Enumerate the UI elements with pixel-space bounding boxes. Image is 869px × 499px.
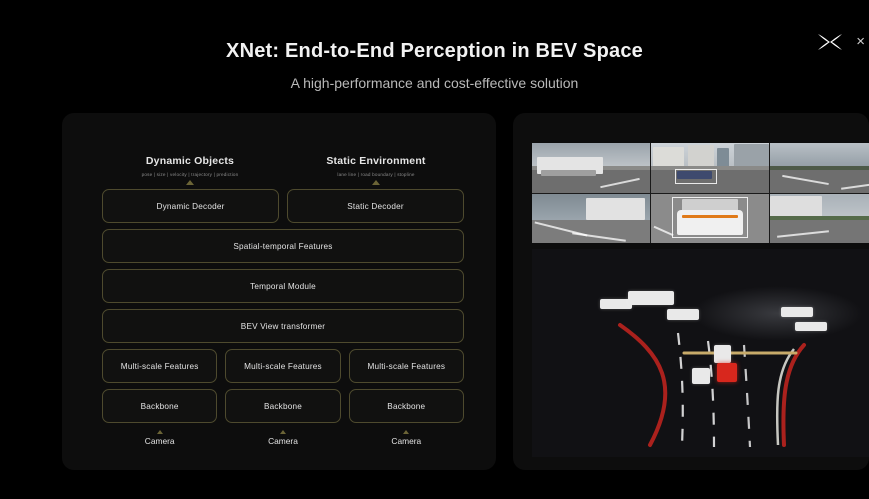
head-attributes: pose | size | velocity | trajectory | pr… — [102, 172, 278, 177]
rear-left-camera — [532, 194, 650, 244]
camera-input: Camera — [102, 430, 217, 446]
bev-scene-view — [532, 249, 869, 457]
block-spatial-temporal-features[interactable]: Spatial-temporal Features — [102, 229, 464, 263]
block-backbone[interactable]: Backbone — [349, 389, 464, 423]
arrow-up-icon — [372, 180, 380, 185]
front-camera — [651, 143, 769, 193]
bev-vehicle — [714, 345, 732, 364]
bev-vehicle — [692, 368, 710, 385]
front-left-camera — [532, 143, 650, 193]
camera-label: Camera — [349, 436, 464, 446]
architecture-diagram: Dynamic Objects pose | size | velocity |… — [102, 155, 464, 446]
multiscale-row: Multi-scale Features Multi-scale Feature… — [102, 349, 464, 383]
bev-vehicle — [667, 309, 699, 319]
camera-input: Camera — [349, 430, 464, 446]
bev-vehicle — [781, 307, 813, 316]
architecture-panel: Dynamic Objects pose | size | velocity |… — [62, 113, 496, 470]
bev-vehicle — [600, 299, 632, 309]
block-multi-scale-features[interactable]: Multi-scale Features — [349, 349, 464, 383]
bev-ego-vehicle — [717, 363, 737, 382]
head-title: Static Environment — [288, 155, 464, 167]
front-right-camera — [770, 143, 869, 193]
page-subtitle: A high-performance and cost-effective so… — [0, 75, 869, 91]
page-title: XNet: End-to-End Perception in BEV Space — [0, 40, 869, 63]
camera-label: Camera — [225, 436, 340, 446]
arrow-up-icon — [280, 430, 286, 434]
rear-camera — [651, 194, 769, 244]
surround-view-camera-grid — [532, 143, 869, 243]
block-bev-view-transformer[interactable]: BEV View transformer — [102, 309, 464, 343]
bev-vehicle — [795, 322, 827, 331]
head-dynamic-objects: Dynamic Objects pose | size | velocity |… — [102, 155, 278, 185]
features-row: Spatial-temporal Features — [102, 229, 464, 263]
backbone-row: Backbone Backbone Backbone — [102, 389, 464, 423]
bev-lane-graphics — [532, 249, 869, 457]
head-static-environment: Static Environment lane line | road boun… — [288, 155, 464, 185]
bev-row: BEV View transformer — [102, 309, 464, 343]
camera-inputs-row: Camera Camera Camera — [102, 430, 464, 446]
block-temporal-module[interactable]: Temporal Module — [102, 269, 464, 303]
slide-canvas: XNet: End-to-End Perception in BEV Space… — [0, 0, 869, 499]
head-attributes: lane line | road boundary | stopline — [288, 172, 464, 177]
arrow-up-icon — [403, 430, 409, 434]
head-title: Dynamic Objects — [102, 155, 278, 167]
visualization-panel — [513, 113, 869, 470]
arrow-up-icon — [157, 430, 163, 434]
block-dynamic-decoder[interactable]: Dynamic Decoder — [102, 189, 279, 223]
arrow-up-icon — [186, 180, 194, 185]
bev-vehicle — [628, 291, 674, 306]
camera-label: Camera — [102, 436, 217, 446]
output-heads-row: Dynamic Objects pose | size | velocity |… — [102, 155, 464, 185]
decoder-row: Dynamic Decoder Static Decoder — [102, 189, 464, 223]
block-multi-scale-features[interactable]: Multi-scale Features — [225, 349, 340, 383]
block-multi-scale-features[interactable]: Multi-scale Features — [102, 349, 217, 383]
close-icon[interactable]: × — [856, 34, 865, 50]
block-static-decoder[interactable]: Static Decoder — [287, 189, 464, 223]
block-backbone[interactable]: Backbone — [102, 389, 217, 423]
camera-input: Camera — [225, 430, 340, 446]
block-backbone[interactable]: Backbone — [225, 389, 340, 423]
rear-right-camera — [770, 194, 869, 244]
x-logo-icon — [817, 33, 843, 51]
temporal-row: Temporal Module — [102, 269, 464, 303]
